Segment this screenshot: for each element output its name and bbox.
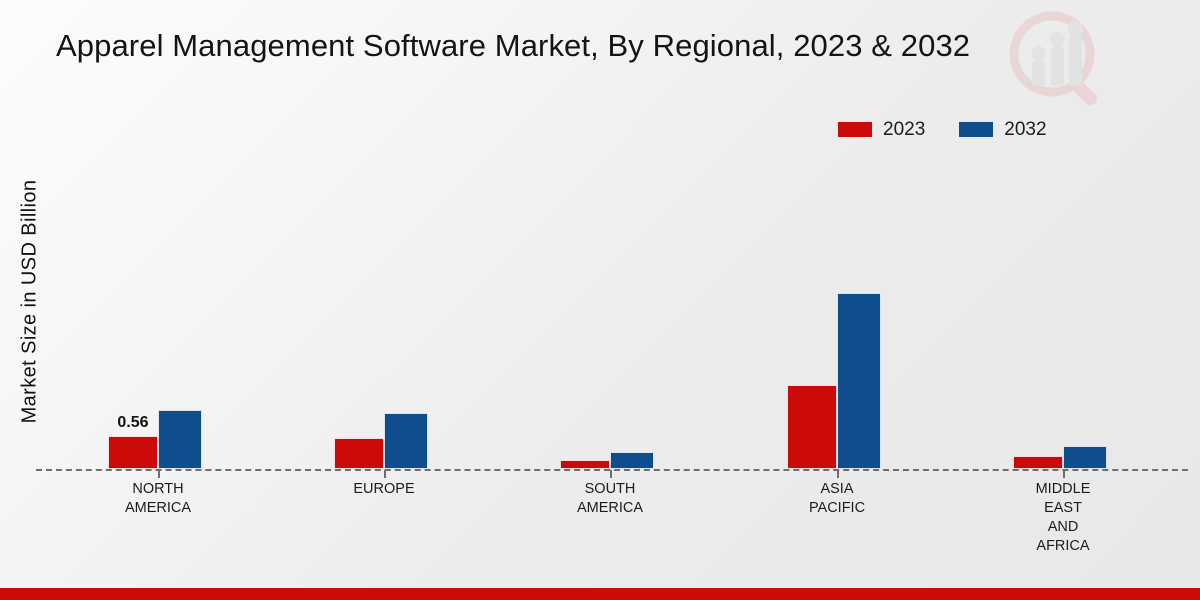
bar-2023-north-america[interactable]: 0.56 (108, 436, 158, 469)
chart-canvas: Apparel Management Software Market, By R… (0, 0, 1200, 600)
bar-value-label-north-america-2023: 0.56 (117, 414, 148, 432)
bar-group-middle-east-and-africa (1013, 446, 1107, 469)
bar-group-europe (334, 413, 428, 469)
bar-2023-south-america[interactable] (560, 460, 610, 469)
bar-group-south-america (560, 452, 654, 469)
x-tick-middle-east-and-africa (1063, 470, 1065, 478)
x-label-europe: EUROPE (304, 480, 464, 499)
bar-2023-middle-east-and-africa[interactable] (1013, 456, 1063, 469)
plot-area: 0.56 NORTH AMERICA EUROPE SOUTH AMERICA … (0, 0, 1200, 600)
bar-2032-europe[interactable] (384, 413, 428, 469)
x-tick-europe (384, 470, 386, 478)
x-label-south-america: SOUTH AMERICA (530, 480, 690, 518)
bar-2032-south-america[interactable] (610, 452, 654, 469)
bar-2032-asia-pacific[interactable] (837, 293, 881, 469)
bar-2023-asia-pacific[interactable] (787, 385, 837, 469)
bar-2023-europe[interactable] (334, 438, 384, 469)
bar-group-asia-pacific (787, 293, 881, 469)
x-axis-baseline (36, 469, 1188, 471)
bar-2032-middle-east-and-africa[interactable] (1063, 446, 1107, 469)
bar-2032-north-america[interactable] (158, 410, 202, 469)
x-label-middle-east-and-africa: MIDDLE EAST AND AFRICA (983, 480, 1143, 557)
x-tick-north-america (158, 470, 160, 478)
footer-accent-bar (0, 588, 1200, 600)
x-label-north-america: NORTH AMERICA (78, 480, 238, 518)
x-label-asia-pacific: ASIA PACIFIC (757, 480, 917, 518)
bar-group-north-america: 0.56 (108, 410, 202, 469)
x-tick-asia-pacific (837, 470, 839, 478)
x-tick-south-america (610, 470, 612, 478)
